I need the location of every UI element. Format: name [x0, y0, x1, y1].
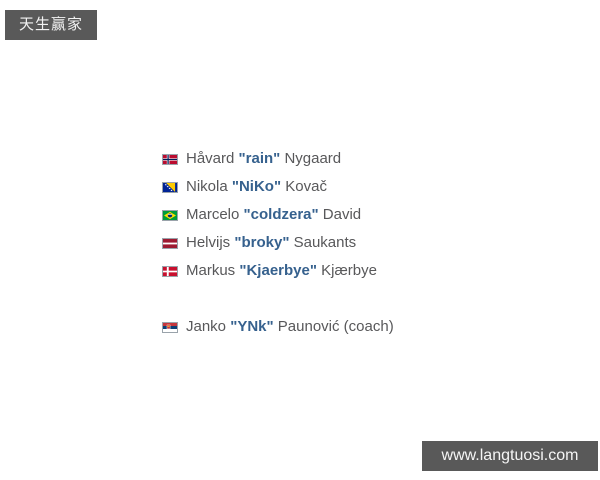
roster-row: Håvard "rain" Nygaard: [162, 145, 562, 173]
player-first-name: Håvard: [186, 150, 234, 167]
player-last-name: Paunović: [278, 318, 340, 335]
player-nickname: "YNk": [230, 318, 273, 335]
player-first-name: Markus: [186, 262, 235, 279]
player-first-name: Marcelo: [186, 206, 239, 223]
roster-row: Helvijs "broky" Saukants: [162, 229, 562, 257]
player-last-name: Kovač: [285, 178, 327, 195]
player-name: Helvijs "broky" Saukants: [186, 234, 356, 252]
roster-row: Markus "Kjaerbye" Kjærbye: [162, 257, 562, 285]
roster-row: Nikola "NiKo" Kovač: [162, 173, 562, 201]
top-left-watermark-badge: 天生赢家: [5, 10, 97, 40]
player-name: Marcelo "coldzera" David: [186, 206, 361, 224]
flag-norway-icon: [162, 154, 178, 165]
player-nickname: "rain": [239, 150, 281, 167]
player-role: (coach): [344, 318, 394, 335]
player-last-name: Nygaard: [284, 150, 341, 167]
roster-separator: [162, 285, 562, 313]
player-last-name: Kjærbye: [321, 262, 377, 279]
flag-bosnia-and-herzegovina-icon: [162, 182, 178, 193]
player-nickname: "NiKo": [232, 178, 281, 195]
player-first-name: Nikola: [186, 178, 228, 195]
roster-row: Janko "YNk" Paunović (coach): [162, 313, 562, 341]
player-name: Markus "Kjaerbye" Kjærbye: [186, 262, 377, 280]
flag-brazil-icon: [162, 210, 178, 221]
player-nickname: "broky": [234, 234, 289, 251]
flag-serbia-icon: [162, 322, 178, 333]
bottom-right-watermark-badge: www.langtuosi.com: [422, 441, 598, 471]
player-first-name: Helvijs: [186, 234, 230, 251]
player-roster: Håvard "rain" NygaardNikola "NiKo" Kovač…: [162, 145, 562, 341]
player-first-name: Janko: [186, 318, 226, 335]
player-name: Janko "YNk" Paunović (coach): [186, 318, 394, 336]
player-name: Håvard "rain" Nygaard: [186, 150, 341, 168]
player-last-name: David: [323, 206, 361, 223]
player-nickname: "coldzera": [244, 206, 319, 223]
flag-denmark-icon: [162, 266, 178, 277]
flag-latvia-icon: [162, 238, 178, 249]
roster-row: Marcelo "coldzera" David: [162, 201, 562, 229]
player-nickname: "Kjaerbye": [239, 262, 317, 279]
player-name: Nikola "NiKo" Kovač: [186, 178, 327, 196]
player-last-name: Saukants: [294, 234, 357, 251]
